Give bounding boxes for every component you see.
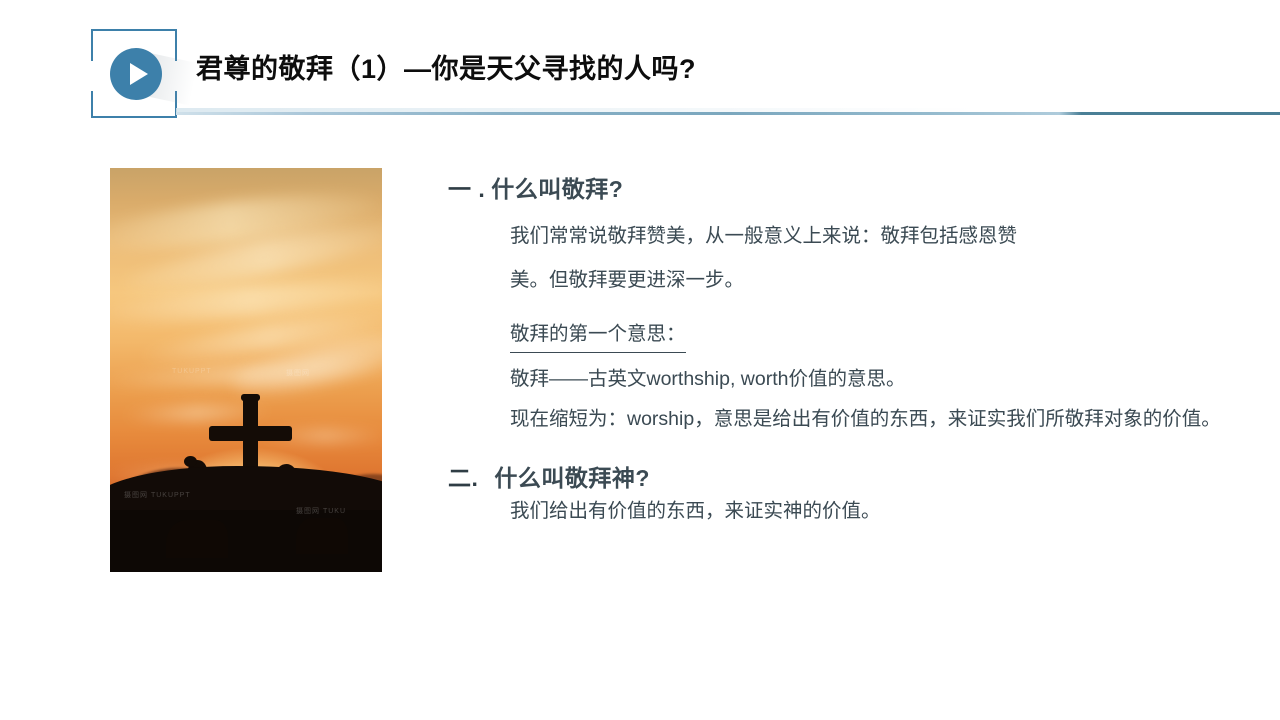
play-triangle [130,63,148,85]
page-title: 君尊的敬拜（1）—你是天父寻找的人吗? [196,47,696,86]
section-one-subheading: 敬拜的第一个意思： [510,318,686,353]
section-one-number: 一 . [448,170,485,204]
section-one-title: 什么叫敬拜? [491,170,623,204]
section-one-explanation: 现在缩短为：worship，意思是给出有价值的东西，来证实我们所敬拜对象的价值。 [510,403,1262,435]
slide-canvas: 君尊的敬拜（1）—你是天父寻找的人吗? TUKUPPT 摄图网 摄图网 TUK [0,0,1280,720]
section-two-heading: 二. 什么叫敬拜神? [448,459,1248,493]
cross-sunset-image: TUKUPPT 摄图网 摄图网 TUKUPPT 摄图网 TUKU [110,168,382,572]
section-two-paragraph: 我们给出有价值的东西，来证实神的价值。 [510,495,1248,527]
section-one-heading: 一 . 什么叫敬拜? [448,170,1248,204]
section-two-number: 二. [448,459,478,493]
play-icon[interactable] [110,48,162,100]
cross-top [241,394,260,401]
section-one-definition: 敬拜——古英文worthship, worth价值的意思。 [510,363,1248,395]
section-one-paragraph-line-1: 我们常常说敬拜赞美，从一般意义上来说：敬拜包括感恩赞 [510,214,1248,258]
cross-crossbeam [209,426,292,441]
praying-figure-right-lower [296,518,348,554]
praying-figure-left-lower [166,520,228,558]
section-one-paragraph-line-2: 美。但敬拜要更进深一步。 [510,258,1248,302]
content-column: 一 . 什么叫敬拜? 我们常常说敬拜赞美，从一般意义上来说：敬拜包括感恩赞 美。… [448,170,1248,527]
section-one-subheading-row: 敬拜的第一个意思： [510,318,1248,353]
title-divider [176,112,1280,115]
section-two-title: 什么叫敬拜神? [494,459,650,493]
praying-figure-left-hair [184,456,197,467]
